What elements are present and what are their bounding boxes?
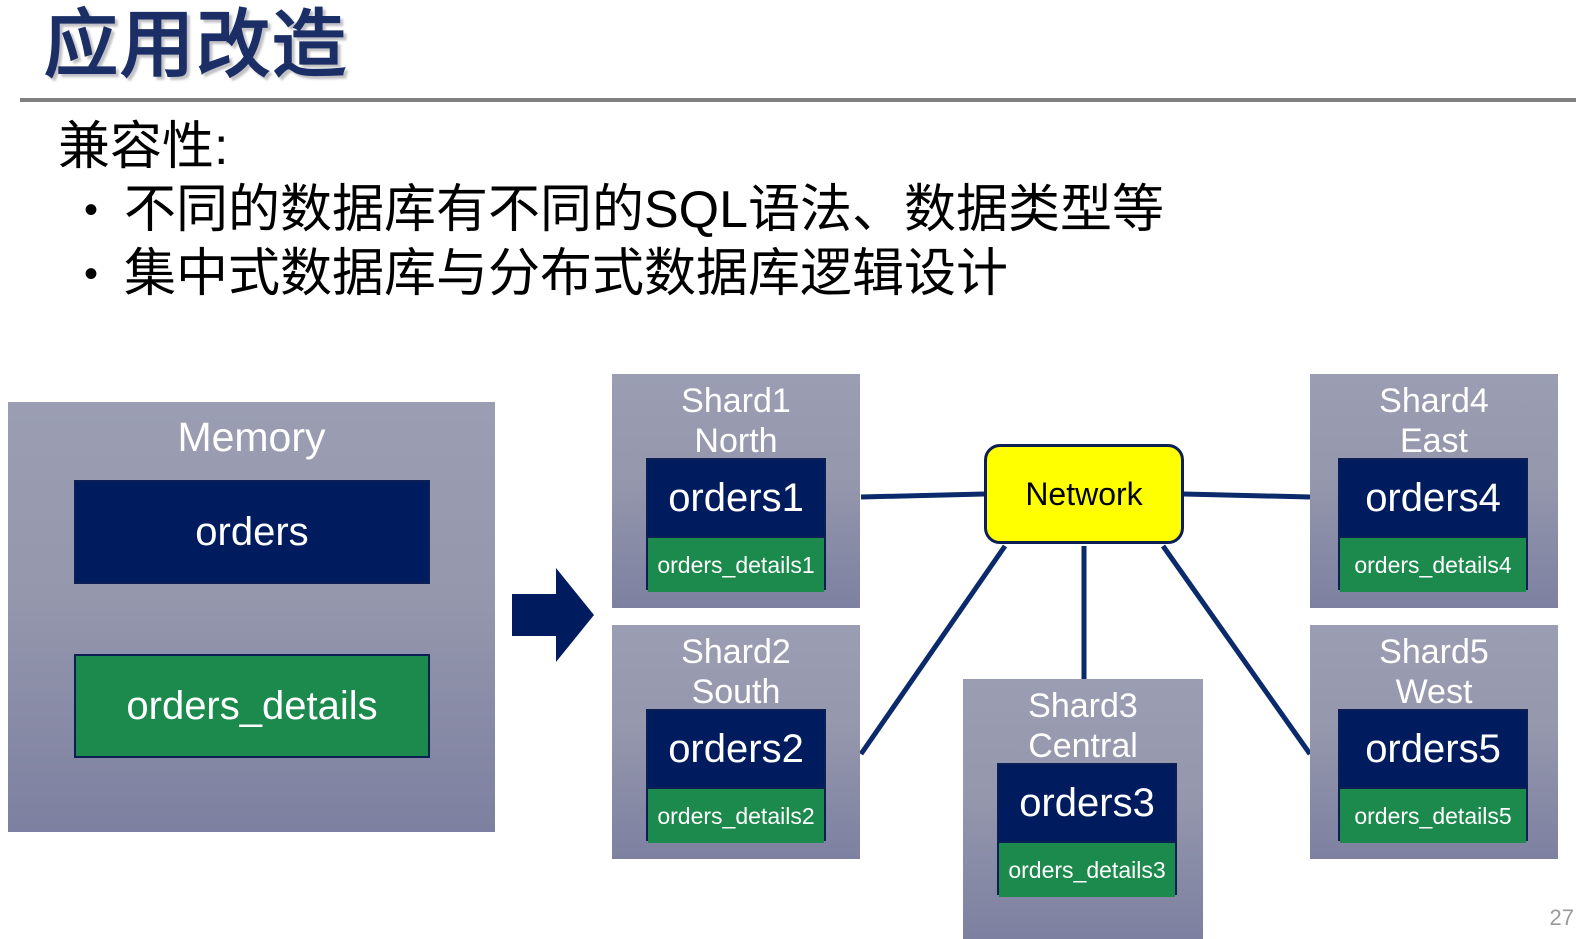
- shard5-table-detail[interactable]: orders_details5: [1340, 787, 1526, 843]
- page-number: 27: [1550, 905, 1574, 931]
- memory-panel-label: Memory: [8, 402, 495, 462]
- memory-panel[interactable]: Memory orders orders_details: [8, 402, 495, 832]
- connector-network-shard4: [1184, 494, 1310, 497]
- shard3-table-detail[interactable]: orders_details3: [999, 841, 1175, 897]
- shard4-label: Shard4East: [1310, 374, 1558, 462]
- shard-panel-shard2[interactable]: Shard2South orders2 orders_details2: [612, 625, 860, 859]
- shard2-table-main[interactable]: orders2: [648, 711, 824, 787]
- shard5-title: Shard5: [1379, 633, 1489, 671]
- shard4-table-detail[interactable]: orders_details4: [1340, 536, 1526, 592]
- shard3-table-main[interactable]: orders3: [999, 765, 1175, 841]
- shard1-tables: orders1 orders_details1: [646, 458, 826, 590]
- memory-table-orders[interactable]: orders: [74, 480, 430, 584]
- shard4-table-main[interactable]: orders4: [1340, 460, 1526, 536]
- shard1-title: Shard1: [681, 382, 791, 420]
- shard2-tables: orders2 orders_details2: [646, 709, 826, 841]
- shard-panel-shard1[interactable]: Shard1North orders1 orders_details1: [612, 374, 860, 608]
- shard2-region: South: [692, 673, 781, 711]
- shard4-title: Shard4: [1379, 382, 1489, 420]
- shard-panel-shard3[interactable]: Shard3Central orders3 orders_details3: [963, 679, 1203, 939]
- flow-arrow-right-icon: [512, 568, 594, 662]
- shard1-label: Shard1North: [612, 374, 860, 462]
- shard1-region: North: [694, 422, 777, 460]
- network-node[interactable]: Network: [984, 444, 1184, 544]
- shard5-tables: orders5 orders_details5: [1338, 709, 1528, 841]
- shard2-table-detail[interactable]: orders_details2: [648, 787, 824, 843]
- memory-table-orders-details[interactable]: orders_details: [74, 654, 430, 758]
- architecture-diagram: Memory orders orders_details Shard1North…: [0, 0, 1594, 939]
- shard2-label: Shard2South: [612, 625, 860, 713]
- shard3-title: Shard3: [1028, 687, 1138, 725]
- shard5-table-main[interactable]: orders5: [1340, 711, 1526, 787]
- shard2-title: Shard2: [681, 633, 791, 671]
- shard5-region: West: [1396, 673, 1473, 711]
- shard4-region: East: [1400, 422, 1468, 460]
- shard-panel-shard5[interactable]: Shard5West orders5 orders_details5: [1310, 625, 1558, 859]
- shard4-tables: orders4 orders_details4: [1338, 458, 1528, 590]
- shard3-label: Shard3Central: [963, 679, 1203, 767]
- shard1-table-main[interactable]: orders1: [648, 460, 824, 536]
- shard3-region: Central: [1028, 727, 1138, 765]
- shard-panel-shard4[interactable]: Shard4East orders4 orders_details4: [1310, 374, 1558, 608]
- shard5-label: Shard5West: [1310, 625, 1558, 713]
- shard1-table-detail[interactable]: orders_details1: [648, 536, 824, 592]
- connector-network-shard1: [861, 494, 984, 497]
- shard3-tables: orders3 orders_details3: [997, 763, 1177, 895]
